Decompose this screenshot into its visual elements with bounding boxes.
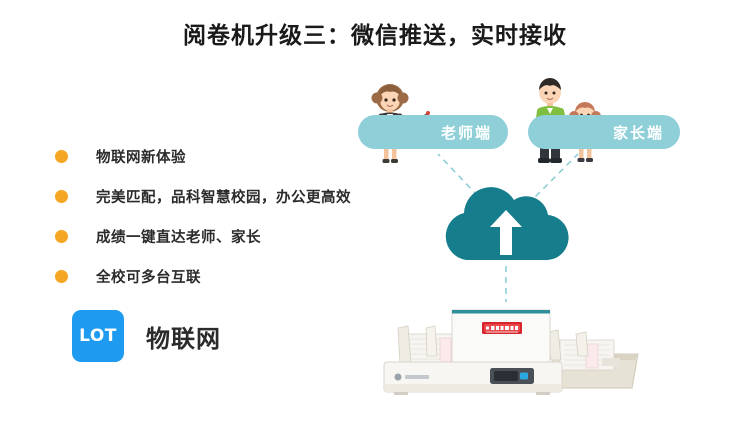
page-title: 阅卷机升级三：微信推送，实时接收 xyxy=(0,16,750,50)
bullet-dot-icon xyxy=(55,230,68,243)
omr-scanner-machine xyxy=(384,310,638,395)
parent-endpoint-label: 家长端 xyxy=(613,122,664,143)
list-item-label: 全校可多台互联 xyxy=(96,266,201,287)
cloud-upload-icon xyxy=(446,187,569,260)
bullet-dot-icon xyxy=(55,270,68,283)
iot-badge-icon: LOT xyxy=(72,310,124,362)
iot-badge-group: LOT 物联网 xyxy=(72,310,221,362)
bullet-dot-icon xyxy=(55,150,68,163)
teacher-endpoint-label: 老师端 xyxy=(441,122,492,143)
list-item-label: 成绩一键直达老师、家长 xyxy=(96,226,261,247)
iot-label: 物联网 xyxy=(146,319,221,354)
parent-endpoint-pill[interactable]: 家长端 xyxy=(528,115,680,149)
list-item-label: 完美匹配，品科智慧校园，办公更高效 xyxy=(96,186,351,207)
output-paper-stack xyxy=(560,340,620,370)
list-item-label: 物联网新体验 xyxy=(96,146,186,167)
slide-canvas: 阅卷机升级三：微信推送，实时接收 物联网新体验 完美匹配，品科智慧校园，办公更高… xyxy=(0,0,750,433)
teacher-endpoint-pill[interactable]: 老师端 xyxy=(358,115,508,149)
iot-flow-diagram: 老师端 家长端 xyxy=(330,70,730,410)
bullet-dot-icon xyxy=(55,190,68,203)
